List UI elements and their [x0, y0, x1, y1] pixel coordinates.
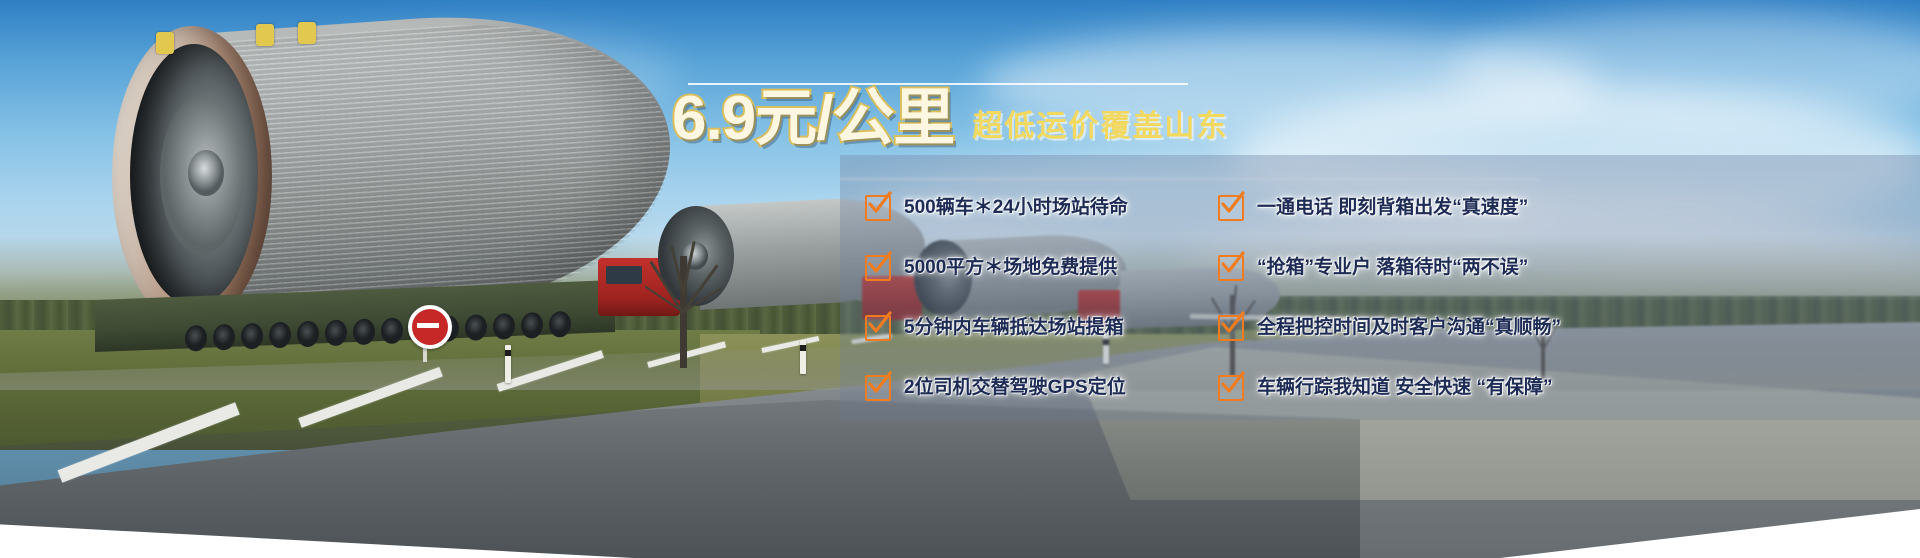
bare-tree: [612, 196, 762, 366]
wheel: [493, 313, 515, 340]
road-marker-post: [505, 345, 511, 383]
wheel: [185, 325, 207, 352]
wheel: [521, 312, 543, 339]
tank-fitting: [256, 24, 274, 46]
tree-branch: [644, 285, 683, 312]
feature-label: 一通电话 即刻背箱出发“真速度”: [1257, 197, 1528, 219]
feature-item: 5000平方＊场地免费提供: [865, 238, 1170, 298]
check-box-icon: [1218, 195, 1244, 221]
wheel: [297, 321, 319, 348]
no-entry-sign: [408, 305, 452, 349]
promo-banner: 6.9元/公里 超低运价覆盖山东 500辆车＊24小时场站待命 5000平方＊场…: [0, 0, 1920, 558]
feature-item: 全程把控时间及时客户沟通“真顺畅”: [1218, 298, 1920, 358]
wheel: [213, 324, 235, 351]
check-box-icon: [865, 255, 891, 281]
tank-hub: [188, 150, 224, 196]
feature-label: 车辆行踪我知道 安全快速 “有保障”: [1257, 377, 1553, 399]
feature-list: 500辆车＊24小时场站待命 5000平方＊场地免费提供 5分钟内车辆抵达场站提…: [865, 178, 1920, 418]
price-headline: 6.9元/公里: [672, 88, 954, 150]
feature-item: 车辆行踪我知道 安全快速 “有保障”: [1218, 358, 1920, 418]
feature-item: 一通电话 即刻背箱出发“真速度”: [1218, 178, 1920, 238]
tree-branch: [682, 287, 722, 313]
feature-label: 2位司机交替驾驶GPS定位: [904, 377, 1126, 399]
feature-label: 5000平方＊场地免费提供: [904, 257, 1117, 279]
feature-item: 5分钟内车辆抵达场站提箱: [865, 298, 1170, 358]
feature-label: 500辆车＊24小时场站待命: [904, 197, 1128, 219]
road-marker-post: [800, 340, 806, 374]
coverage-subheadline: 超低运价覆盖山东: [972, 110, 1228, 144]
check-box-icon: [865, 315, 891, 341]
feature-item: 2位司机交替驾驶GPS定位: [865, 358, 1170, 418]
wheel: [465, 314, 487, 341]
check-box-icon: [1218, 315, 1244, 341]
feature-item: “抢箱”专业户 落箱待时“两不误”: [1218, 238, 1920, 298]
wheel: [381, 317, 403, 344]
check-box-icon: [1218, 375, 1244, 401]
wheel: [241, 323, 263, 350]
wheel: [353, 318, 375, 345]
check-box-icon: [865, 195, 891, 221]
check-box-icon: [1218, 255, 1244, 281]
wheel: [325, 319, 347, 346]
wheel: [549, 311, 571, 338]
headline-block: 6.9元/公里 超低运价覆盖山东: [672, 84, 1872, 150]
feature-label: 5分钟内车辆抵达场站提箱: [904, 317, 1124, 339]
feature-label: 全程把控时间及时客户沟通“真顺畅”: [1257, 317, 1561, 339]
tank-fitting: [298, 22, 316, 44]
feature-item: 500辆车＊24小时场站待命: [865, 178, 1170, 238]
wheel: [269, 322, 291, 349]
tank-fitting: [156, 32, 174, 54]
feature-label: “抢箱”专业户 落箱待时“两不误”: [1257, 257, 1528, 279]
check-box-icon: [865, 375, 891, 401]
